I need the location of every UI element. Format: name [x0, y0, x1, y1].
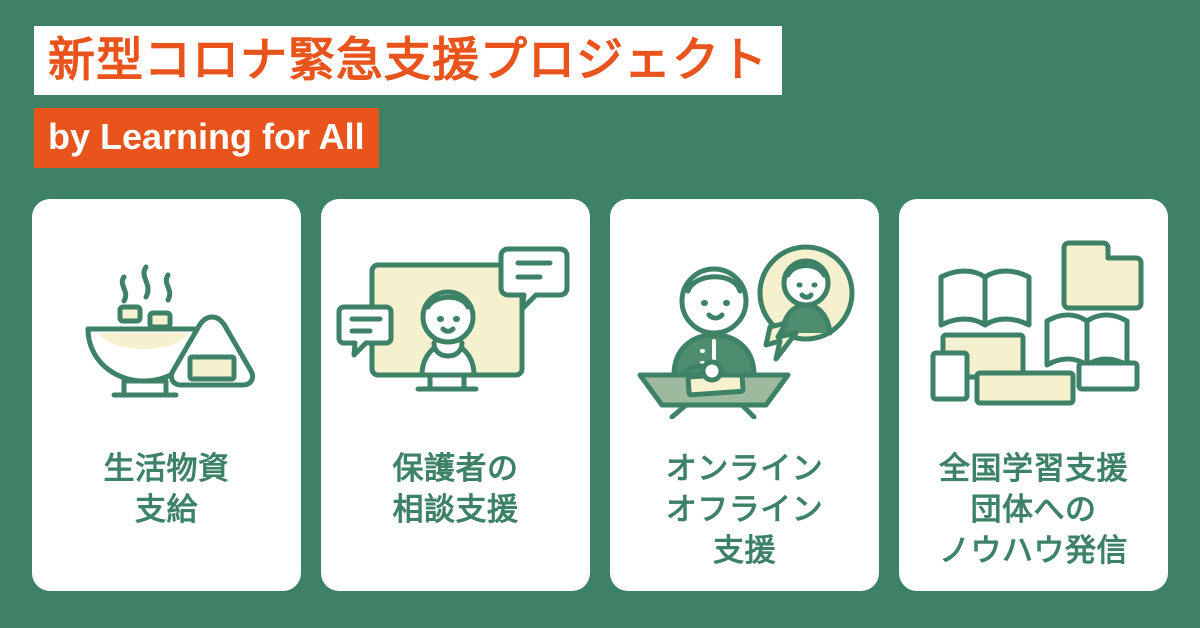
card-label-line: 相談支援 — [393, 492, 519, 527]
card-illustration — [32, 199, 301, 449]
card-label-line: 支援 — [713, 533, 776, 568]
card-illustration — [899, 199, 1168, 449]
online-offline-study-icon — [630, 229, 860, 419]
card-item[interactable]: 保護者の 相談支援 — [321, 199, 590, 591]
rice-bowl-and-onigiri-icon — [62, 229, 272, 419]
title-block: 新型コロナ緊急支援プロジェクト by Learning for All — [34, 26, 782, 168]
card-label-line: 保護者の — [393, 451, 519, 486]
card-illustration — [321, 199, 590, 449]
poster-canvas: 新型コロナ緊急支援プロジェクト by Learning for All — [0, 0, 1200, 628]
card-label: 全国学習支援 団体への ノウハウ発信 — [933, 449, 1134, 572]
card-label-line: オフライン — [666, 492, 824, 527]
card-item[interactable]: 生活物資 支給 — [32, 199, 301, 591]
card-list: 生活物資 支給 — [32, 199, 1168, 591]
card-label-line: オンライン — [666, 451, 824, 486]
card-label: 保護者の 相談支援 — [387, 449, 525, 531]
card-label: オンライン オフライン 支援 — [660, 449, 830, 572]
card-label-line: 団体への — [971, 492, 1097, 527]
card-illustration-wrapper[interactable]: 全国学習支援 団体への ノウハウ発信 — [899, 199, 1168, 591]
card-item[interactable]: オンライン オフライン 支援 — [610, 199, 879, 591]
card-label: 生活物資 支給 — [98, 449, 236, 531]
page-title: 新型コロナ緊急支援プロジェクト — [34, 26, 782, 95]
page-subtitle: by Learning for All — [34, 108, 379, 167]
card-label-line: 生活物資 — [104, 451, 230, 486]
books-and-documents-icon — [919, 229, 1149, 419]
card-label-line: 支給 — [135, 492, 198, 527]
card-label-line: ノウハウ発信 — [939, 533, 1128, 568]
online-consultation-icon — [336, 229, 576, 419]
card-illustration — [610, 199, 879, 449]
card-label-line: 全国学習支援 — [939, 451, 1128, 486]
